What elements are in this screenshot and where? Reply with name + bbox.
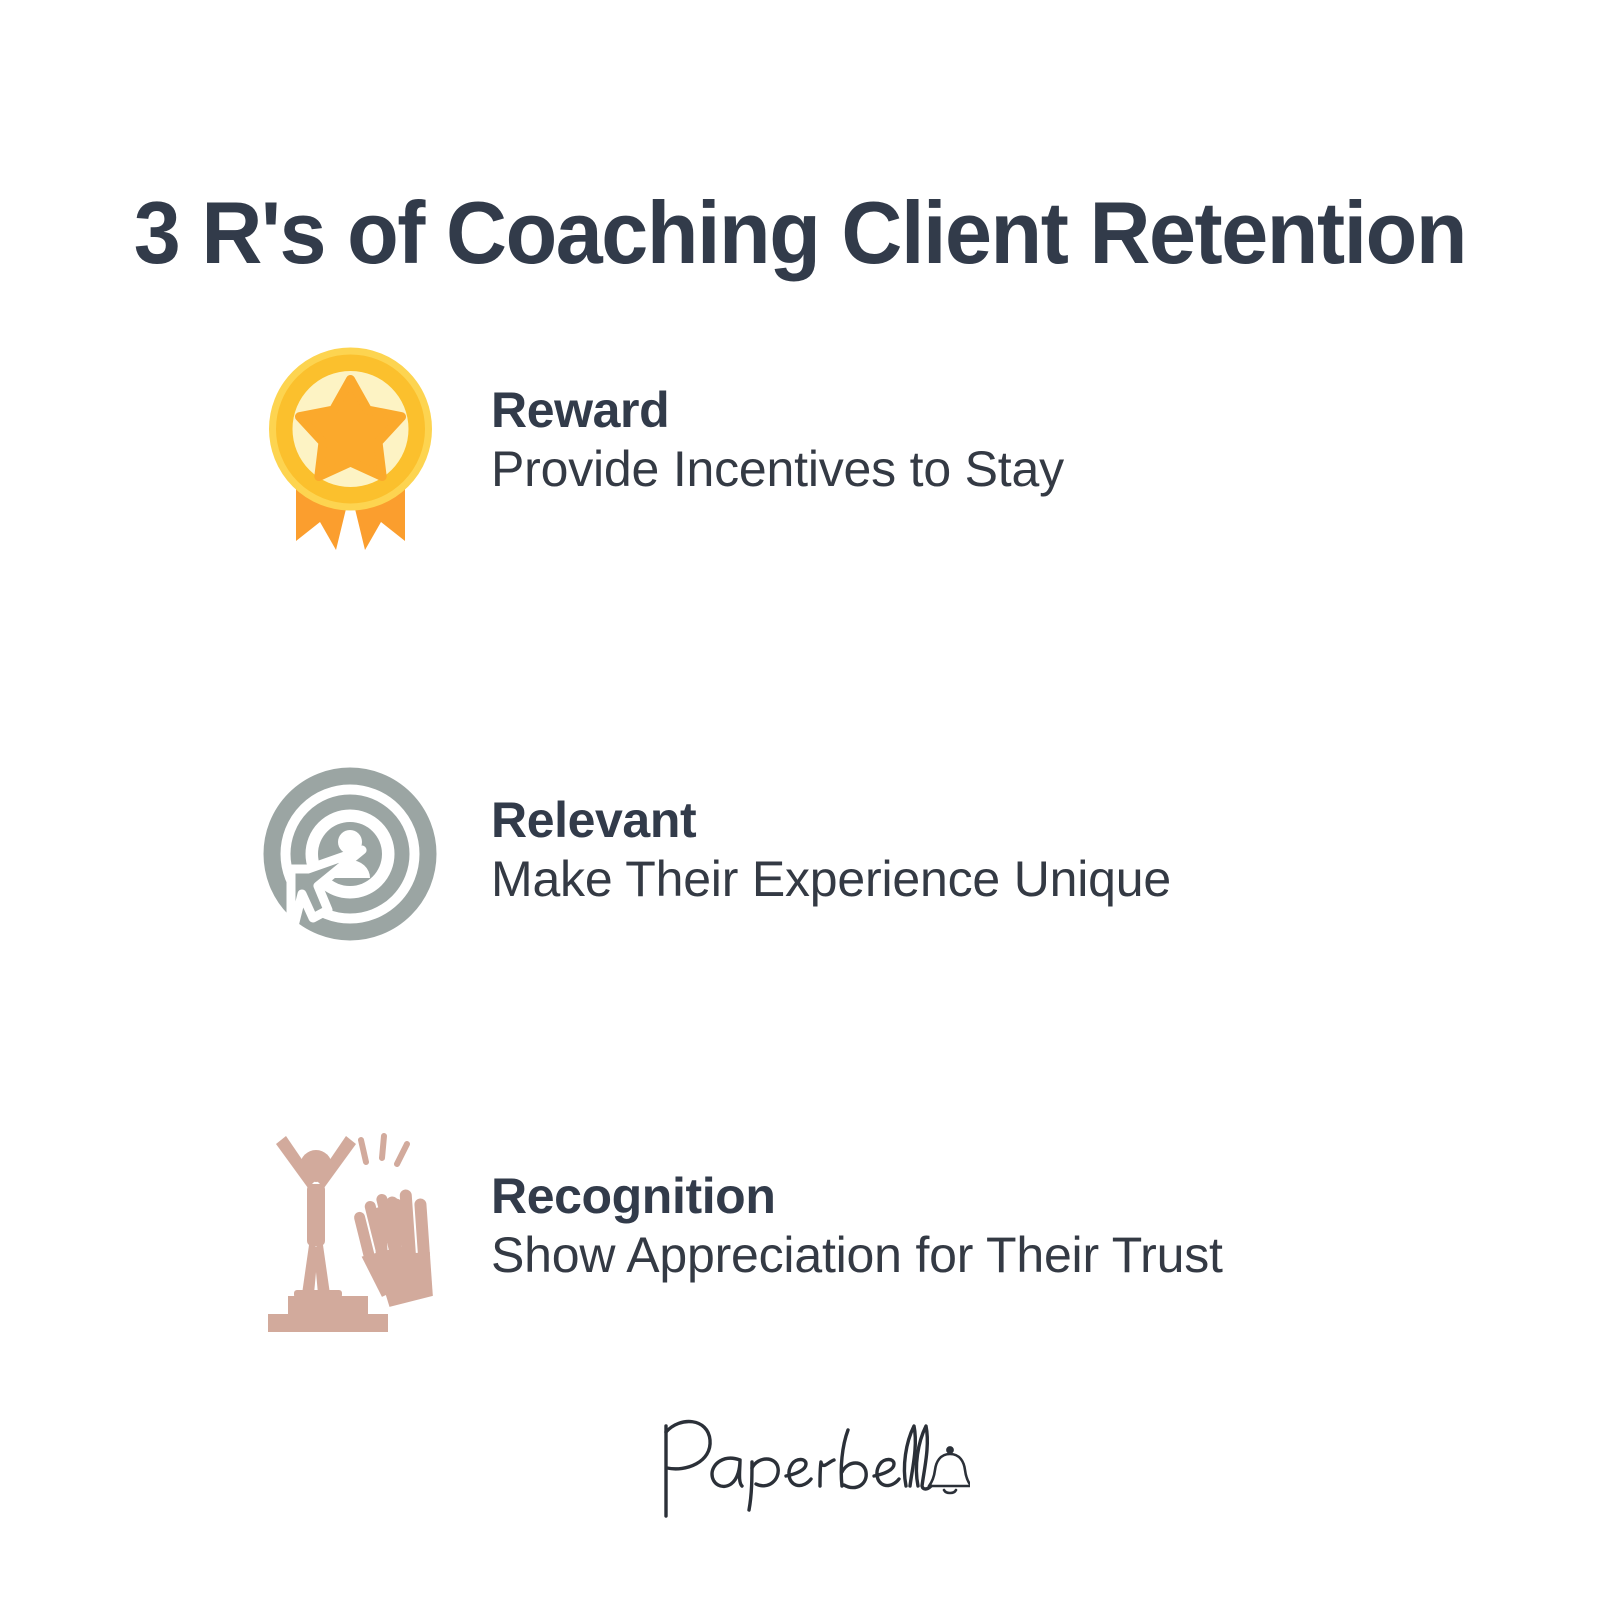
item-heading: Recognition <box>491 1168 1600 1224</box>
target-person-cursor-icon <box>258 742 443 977</box>
award-medal-star-icon <box>258 336 443 571</box>
item-heading: Reward <box>491 382 1600 438</box>
item-heading: Relevant <box>491 792 1600 848</box>
infographic-poster: 3 R's of Coaching Client Retention <box>0 0 1600 1600</box>
item-text-relevant: Relevant Make Their Experience Unique <box>491 730 1600 909</box>
item-text-recognition: Recognition Show Appreciation for Their … <box>491 1110 1600 1285</box>
brand-logo: Paperbell <box>0 1410 1600 1530</box>
item-subheading: Show Appreciation for Their Trust <box>491 1226 1600 1285</box>
podium-winner-applause-icon <box>258 1118 443 1353</box>
list-item-reward: Reward Provide Incentives to Stay <box>0 330 1600 730</box>
items-list: Reward Provide Incentives to Stay <box>0 330 1600 1470</box>
item-subheading: Provide Incentives to Stay <box>491 440 1600 499</box>
item-text-reward: Reward Provide Incentives to Stay <box>491 330 1600 499</box>
list-item-relevant: Relevant Make Their Experience Unique <box>0 730 1600 1110</box>
page-title: 3 R's of Coaching Client Retention <box>134 187 1466 279</box>
page-title-container: 3 R's of Coaching Client Retention <box>0 128 1600 338</box>
item-subheading: Make Their Experience Unique <box>491 850 1600 909</box>
bell-icon <box>929 1447 970 1493</box>
